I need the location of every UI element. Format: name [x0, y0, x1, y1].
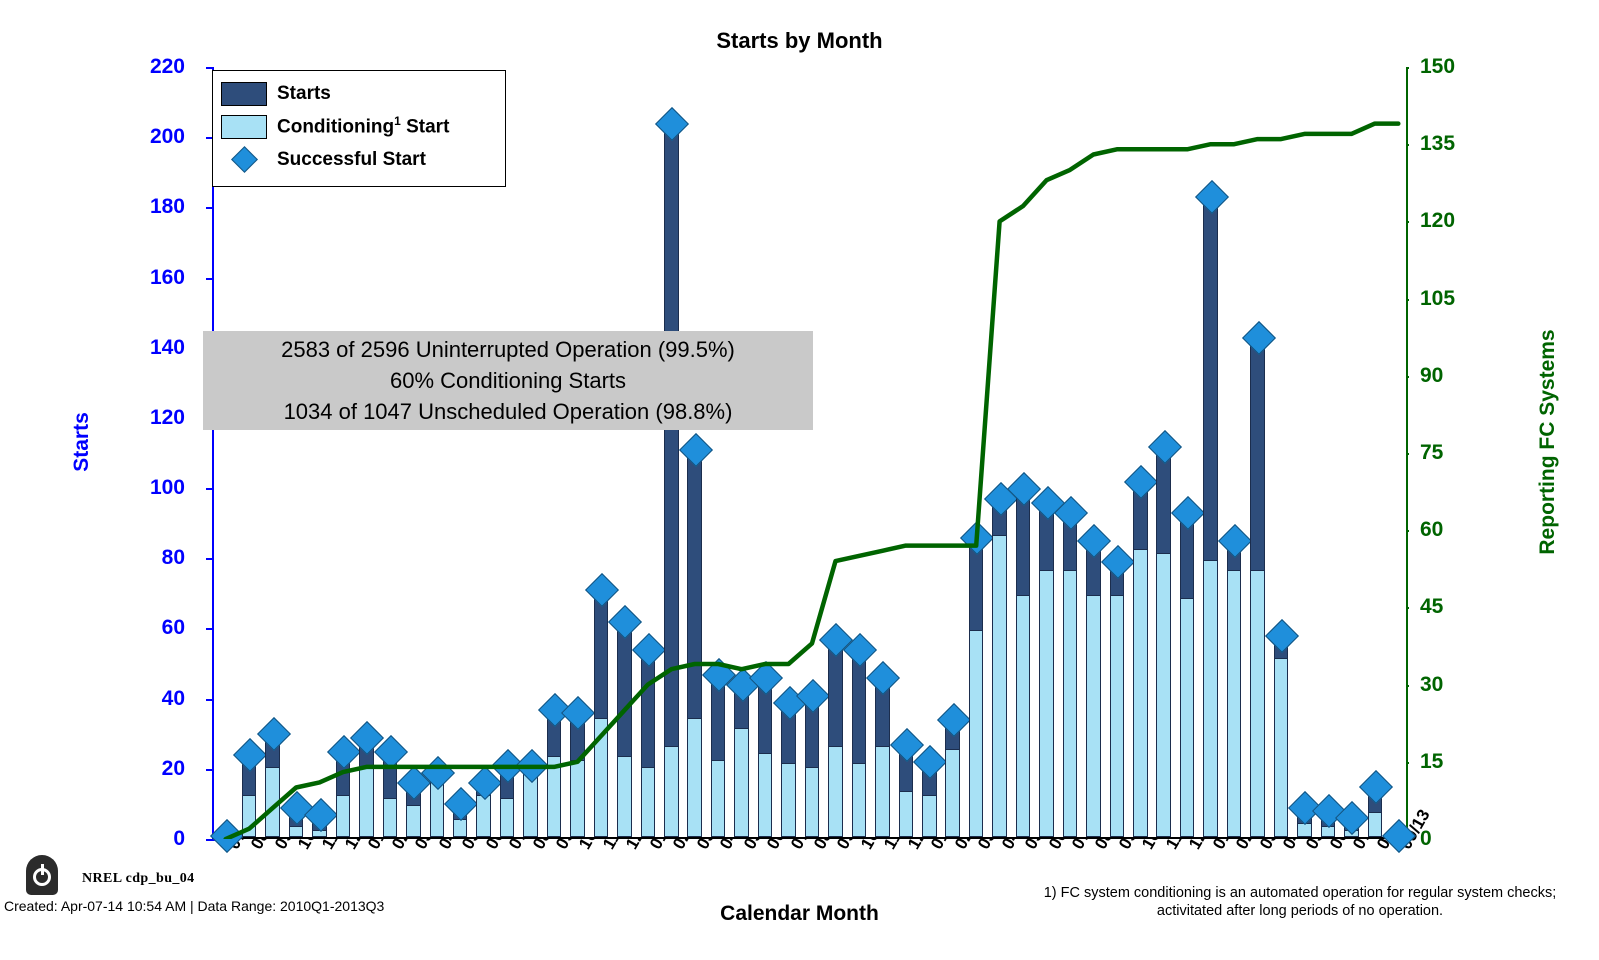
bar-conditioning: [992, 535, 1007, 837]
bar-conditioning: [570, 760, 585, 837]
y-axis-left-tick-label: 100: [115, 476, 185, 500]
y-axis-right-tick-label: 15: [1420, 750, 1490, 774]
bar-group: [523, 65, 538, 837]
bar-conditioning: [758, 753, 773, 837]
bar-group: [711, 65, 726, 837]
y-axis-left-tick-label: 140: [115, 336, 185, 360]
successful-start-marker: [1171, 496, 1205, 530]
y-axis-right-tick-label: 75: [1420, 441, 1490, 465]
y-axis-right-tick-label: 105: [1420, 287, 1490, 311]
y-axis-right-tick-label: 60: [1420, 518, 1490, 542]
bar-conditioning: [406, 805, 421, 837]
power-icon: [26, 855, 58, 895]
y-axis-left-tick-label: 200: [115, 125, 185, 149]
y-axis-right-title: Reporting FC Systems: [1536, 282, 1560, 602]
y-axis-right-tick-label: 120: [1420, 209, 1490, 233]
y-axis-right-tick-label: 30: [1420, 673, 1490, 697]
bar-conditioning: [711, 760, 726, 837]
bar-group: [969, 65, 984, 837]
successful-start-marker: [515, 749, 549, 783]
bar-group: [758, 65, 773, 837]
successful-start-marker: [257, 717, 291, 751]
y-axis-left-tick-label: 120: [115, 406, 185, 430]
bar-conditioning: [1110, 595, 1125, 837]
bar-conditioning: [1133, 549, 1148, 837]
bar-conditioning: [922, 795, 937, 837]
y-axis-right-tick-label: 135: [1420, 132, 1490, 156]
y-axis-right-tick-label: 90: [1420, 364, 1490, 388]
successful-start-marker: [444, 787, 478, 821]
bar-group: [1133, 65, 1148, 837]
bar-group: [899, 65, 914, 837]
bar-group: [945, 65, 960, 837]
bar-group: [828, 65, 843, 837]
y-axis-left-tick-label: 40: [115, 687, 185, 711]
bar-conditioning: [265, 767, 280, 837]
bar-conditioning: [547, 756, 562, 837]
bar-conditioning: [1368, 812, 1383, 837]
power-icon-bar: [41, 864, 44, 875]
bar-group: [594, 65, 609, 837]
bar-group: [617, 65, 632, 837]
bar-group: [641, 65, 656, 837]
y-axis-right-tick-label: 0: [1420, 827, 1490, 851]
legend-item-successful-start: Successful Start: [221, 143, 497, 176]
bar-conditioning: [289, 826, 304, 837]
legend-diamond-icon: [231, 146, 258, 173]
successful-start-marker: [937, 703, 971, 737]
bar-group: [1250, 65, 1265, 837]
bar-conditioning: [500, 798, 515, 837]
successful-start-marker: [1242, 321, 1276, 355]
bar-group: [1321, 65, 1336, 837]
successful-start-marker: [562, 696, 596, 730]
bar-conditioning: [687, 718, 702, 837]
y-axis-right-tick-label: 45: [1420, 595, 1490, 619]
legend-swatch-conditioning: [221, 115, 267, 139]
bar-group: [1227, 65, 1242, 837]
cdp-identifier: NREL cdp_bu_04: [82, 871, 195, 887]
successful-start-marker: [866, 661, 900, 695]
footnote-text: 1) FC system conditioning is an automate…: [1010, 884, 1590, 920]
y-axis-left-title: Starts: [70, 342, 94, 542]
bar-conditioning: [1086, 595, 1101, 837]
bar-group: [1391, 65, 1406, 837]
successful-start-marker: [233, 738, 267, 772]
legend-label-conditioning: Conditioning1 Start: [277, 114, 449, 138]
bar-group: [687, 65, 702, 837]
y-axis-left-tick-label: 160: [115, 266, 185, 290]
bar-conditioning: [383, 798, 398, 837]
bar-conditioning: [1321, 826, 1336, 837]
y-axis-left-tick-label: 0: [115, 827, 185, 851]
bar-group: [1180, 65, 1195, 837]
bar-conditioning: [476, 795, 491, 837]
bar-conditioning: [852, 763, 867, 837]
bar-conditioning: [828, 746, 843, 837]
successful-start-marker: [960, 521, 994, 555]
bar-conditioning: [781, 763, 796, 837]
bar-group: [1016, 65, 1031, 837]
y-axis-left-tick-label: 20: [115, 757, 185, 781]
successful-start-marker: [1101, 545, 1135, 579]
successful-start-marker: [1148, 430, 1182, 464]
bar-group: [1203, 65, 1218, 837]
bar-group: [1156, 65, 1171, 837]
successful-start-marker: [1359, 770, 1393, 804]
bar-group: [875, 65, 890, 837]
stats-annotation-box: 2583 of 2596 Uninterrupted Operation (99…: [203, 331, 813, 430]
successful-start-marker: [1077, 524, 1111, 558]
legend-item-starts: Starts: [221, 77, 497, 110]
stats-line-1: 2583 of 2596 Uninterrupted Operation (99…: [207, 334, 809, 365]
bar-group: [1039, 65, 1054, 837]
bar-conditioning: [641, 767, 656, 837]
legend-item-conditioning: Conditioning1 Start: [221, 110, 497, 143]
chart-canvas: Starts by Month Starts Reporting FC Syst…: [0, 0, 1599, 960]
page-title: Starts by Month: [0, 28, 1599, 54]
bar-group: [852, 65, 867, 837]
legend-swatch-starts: [221, 82, 267, 106]
bar-conditioning: [899, 791, 914, 837]
bar-conditioning: [875, 746, 890, 837]
bar-group: [1297, 65, 1312, 837]
y-axis-right-tick-label: 150: [1420, 55, 1490, 79]
bar-conditioning: [945, 749, 960, 837]
successful-start-marker: [1265, 619, 1299, 653]
bar-conditioning: [1250, 570, 1265, 837]
y-axis-left-tick-label: 60: [115, 616, 185, 640]
bar-conditioning: [805, 767, 820, 837]
bar-starts: [664, 125, 679, 837]
bar-conditioning: [336, 795, 351, 837]
bar-conditioning: [1063, 570, 1078, 837]
bar-conditioning: [617, 756, 632, 837]
successful-start-marker: [1124, 465, 1158, 499]
bar-group: [805, 65, 820, 837]
bar-group: [1368, 65, 1383, 837]
successful-start-marker: [585, 573, 619, 607]
bar-conditioning: [734, 728, 749, 837]
y-axis-left-tick-label: 180: [115, 195, 185, 219]
bar-conditioning: [1274, 658, 1289, 837]
bar-conditioning: [242, 795, 257, 837]
bar-conditioning: [1180, 598, 1195, 837]
bar-conditioning: [1016, 595, 1031, 837]
bar-conditioning: [1203, 560, 1218, 837]
bar-conditioning: [359, 767, 374, 837]
successful-start-marker: [608, 605, 642, 639]
successful-start-marker: [655, 107, 689, 141]
bar-conditioning: [1227, 570, 1242, 837]
bar-conditioning: [1156, 553, 1171, 837]
bar-group: [1063, 65, 1078, 837]
bar-group: [734, 65, 749, 837]
legend-label-successful-start: Successful Start: [277, 149, 426, 171]
bar-group: [1086, 65, 1101, 837]
successful-start-marker: [1195, 180, 1229, 214]
created-timestamp: Created: Apr-07-14 10:54 AM | Data Range…: [4, 898, 384, 914]
bar-conditioning: [1039, 570, 1054, 837]
bar-group: [781, 65, 796, 837]
bar-group: [664, 65, 679, 837]
stats-line-2: 60% Conditioning Starts: [207, 365, 809, 396]
legend-footnote-ref: 1: [394, 114, 401, 128]
bar-group: [547, 65, 562, 837]
bar-group: [1110, 65, 1125, 837]
successful-start-marker: [632, 633, 666, 667]
bar-conditioning: [664, 746, 679, 837]
bar-conditioning: [594, 718, 609, 837]
bar-group: [1344, 65, 1359, 837]
stats-line-3: 1034 of 1047 Unscheduled Operation (98.8…: [207, 396, 809, 427]
bar-group: [1274, 65, 1289, 837]
y-axis-left-tick-label: 220: [115, 55, 185, 79]
bar-group: [570, 65, 585, 837]
bar-group: [992, 65, 1007, 837]
legend-label-starts: Starts: [277, 83, 331, 105]
legend: Starts Conditioning1 Start Successful St…: [212, 70, 506, 187]
successful-start-marker: [679, 433, 713, 467]
successful-start-marker: [1218, 524, 1252, 558]
bar-group: [922, 65, 937, 837]
y-axis-left-tick-label: 80: [115, 546, 185, 570]
bar-conditioning: [969, 630, 984, 837]
bar-conditioning: [453, 819, 468, 837]
